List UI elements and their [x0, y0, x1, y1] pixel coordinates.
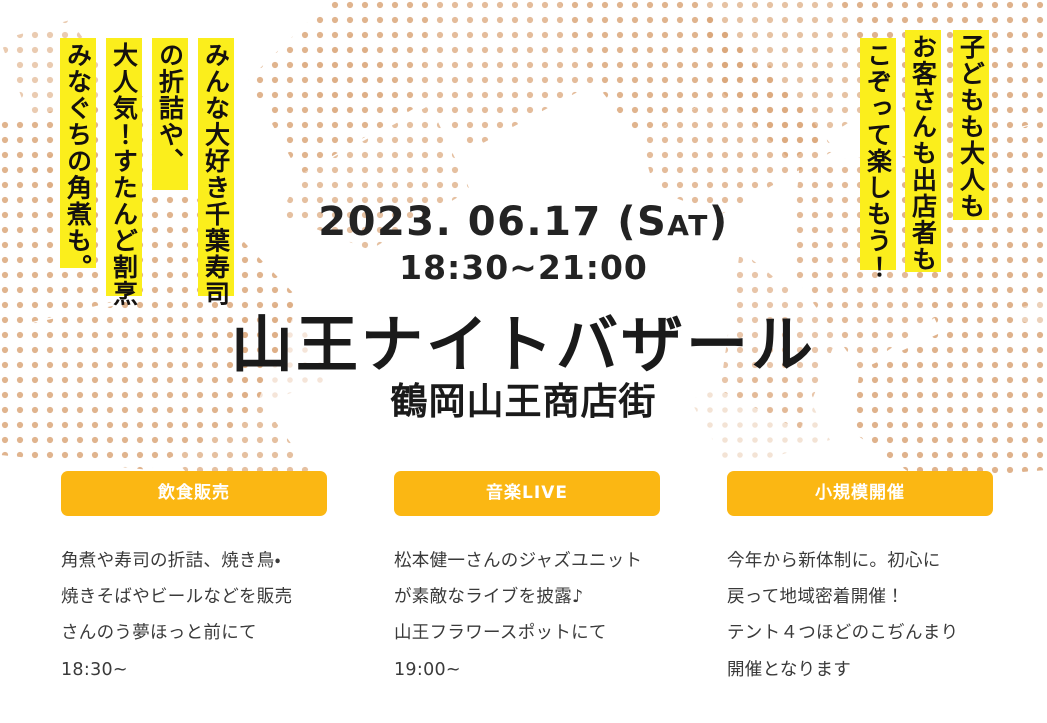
info-body-scale: 今年から新体制に。初心に 戻って地域密着開催！ テント４つほどのこぢんまり 開催… — [727, 543, 993, 688]
event-date: 2023. 06.17 — [318, 199, 601, 245]
side-text-left-2: の折詰や、 — [152, 38, 188, 190]
event-date-line: 2023. 06.17 (Sat) — [0, 199, 1047, 245]
info-body-food: 角煮や寿司の折詰、焼き鳥・ 焼きそばやビールなどを販売 さんのう夢ほっと前にて … — [61, 543, 327, 688]
info-column-scale: 小規模開催 今年から新体制に。初心に 戻って地域密着開催！ テント４つほどのこぢ… — [727, 471, 993, 688]
event-poster: みんな大好き千葉寿司 の折詰や、 大人気！すたんど割烹 みなぐちの角煮も。 子ど… — [0, 0, 1047, 723]
page-subtitle: 鶴岡山王商店街 — [0, 371, 1047, 425]
event-day-of-week: (Sat) — [617, 199, 728, 245]
side-text-right-1: 子どもも大人も — [953, 30, 989, 220]
info-column-music: 音楽LIVE 松本健一さんのジャズユニット が素敵なライブを披露♪ 山王フラワー… — [394, 471, 660, 688]
event-time: 18:30~21:00 — [0, 248, 1047, 287]
badge-small-scale[interactable]: 小規模開催 — [727, 471, 993, 516]
info-body-music: 松本健一さんのジャズユニット が素敵なライブを披露♪ 山王フラワースポットにて … — [394, 543, 660, 688]
info-columns: 飲食販売 角煮や寿司の折詰、焼き鳥・ 焼きそばやビールなどを販売 さんのう夢ほっ… — [0, 471, 1047, 701]
badge-food-sales[interactable]: 飲食販売 — [61, 471, 327, 516]
info-column-food: 飲食販売 角煮や寿司の折詰、焼き鳥・ 焼きそばやビールなどを販売 さんのう夢ほっ… — [61, 471, 327, 688]
badge-music-live[interactable]: 音楽LIVE — [394, 471, 660, 516]
